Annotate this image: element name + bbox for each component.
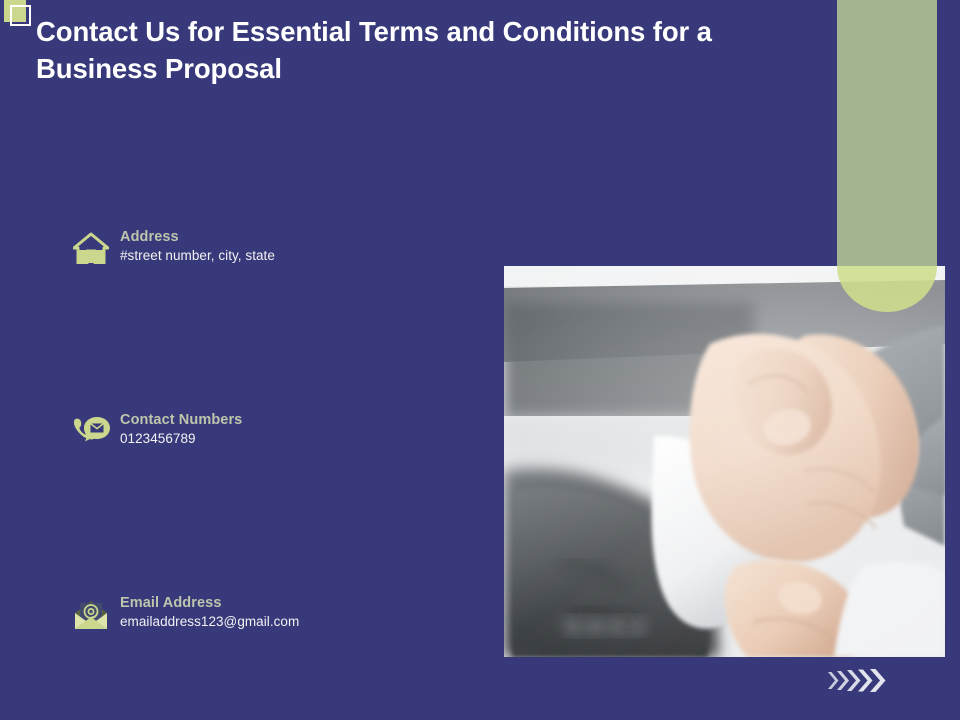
email-at-icon bbox=[62, 594, 120, 632]
page-title: Contact Us for Essential Terms and Condi… bbox=[36, 14, 826, 87]
contact-text-block: Contact Numbers 0123456789 bbox=[120, 411, 242, 449]
contact-text-block: Email Address emailaddress123@gmail.com bbox=[120, 594, 299, 632]
white-square-outline-icon bbox=[10, 5, 31, 26]
contact-value: 0123456789 bbox=[120, 429, 242, 449]
contact-item-email: Email Address emailaddress123@gmail.com bbox=[62, 594, 299, 632]
phone-message-icon bbox=[62, 411, 120, 453]
slide-canvas: Contact Us for Essential Terms and Condi… bbox=[0, 0, 960, 720]
double-chevron-right-arrows-icon bbox=[826, 668, 886, 694]
green-bar-upper bbox=[837, 0, 937, 266]
contact-value: #street number, city, state bbox=[120, 246, 275, 266]
contact-item-address: Address #street number, city, state bbox=[62, 228, 275, 266]
contact-label: Contact Numbers bbox=[120, 411, 242, 429]
contact-text-block: Address #street number, city, state bbox=[120, 228, 275, 266]
contact-item-phone: Contact Numbers 0123456789 bbox=[62, 411, 242, 453]
handshake-photo bbox=[504, 266, 945, 657]
contact-value: emailaddress123@gmail.com bbox=[120, 612, 299, 632]
contact-label: Email Address bbox=[120, 594, 299, 612]
contact-label: Address bbox=[120, 228, 275, 246]
home-icon bbox=[62, 228, 120, 264]
